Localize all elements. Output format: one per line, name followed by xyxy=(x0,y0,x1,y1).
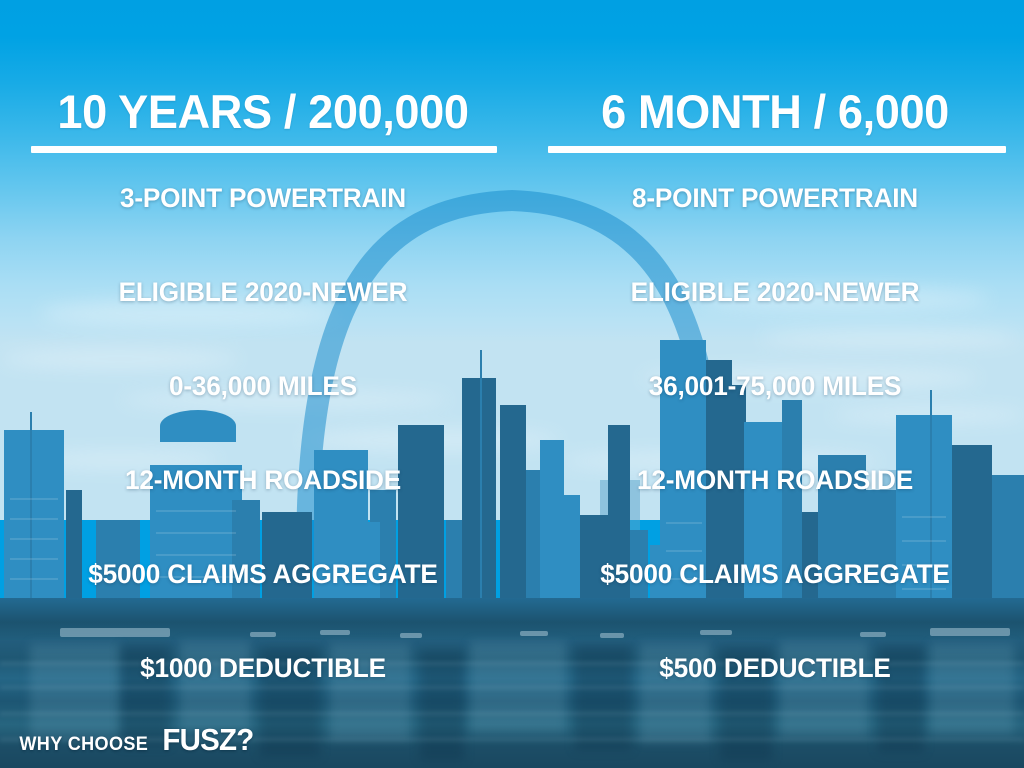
feature-item: $500 DEDUCTIBLE xyxy=(533,655,1016,749)
feature-label: 0-36,000 MILES xyxy=(169,373,357,400)
feature-label: 8-POINT POWERTRAIN xyxy=(632,185,918,212)
brand-name: FUSZ? xyxy=(162,722,253,758)
slide-canvas: 10 YEARS / 200,000 3-POINT POWERTRAIN EL… xyxy=(0,0,1024,768)
heading-underline-left xyxy=(31,146,497,153)
feature-list-left: 3-POINT POWERTRAIN ELIGIBLE 2020-NEWER 0… xyxy=(0,185,526,749)
feature-item: $5000 CLAIMS AGGREGATE xyxy=(533,561,1016,655)
feature-item: 0-36,000 MILES xyxy=(8,373,518,467)
feature-item: $5000 CLAIMS AGGREGATE xyxy=(8,561,518,655)
plan-heading-right: 6 MONTH / 6,000 xyxy=(536,88,1014,135)
feature-item: ELIGIBLE 2020-NEWER xyxy=(533,279,1016,373)
feature-label: $5000 CLAIMS AGGREGATE xyxy=(600,561,949,588)
feature-item: 12-MONTH ROADSIDE xyxy=(533,467,1016,561)
brand-prefix: WHY CHOOSE xyxy=(19,734,148,756)
feature-label: $1000 DEDUCTIBLE xyxy=(140,655,386,682)
feature-label: $5000 CLAIMS AGGREGATE xyxy=(88,561,437,588)
feature-item: 12-MONTH ROADSIDE xyxy=(8,467,518,561)
feature-item: 8-POINT POWERTRAIN xyxy=(533,185,1016,279)
feature-label: 36,001-75,000 MILES xyxy=(649,373,902,400)
feature-label: $500 DEDUCTIBLE xyxy=(659,655,890,682)
feature-item: 3-POINT POWERTRAIN xyxy=(8,185,518,279)
plan-heading-left: 10 YEARS / 200,000 xyxy=(11,88,516,135)
feature-item: 36,001-75,000 MILES xyxy=(533,373,1016,467)
feature-list-right: 8-POINT POWERTRAIN ELIGIBLE 2020-NEWER 3… xyxy=(526,185,1024,749)
brand-lockup: WHY CHOOSE FUSZ? xyxy=(16,722,255,758)
plan-column-right: 6 MONTH / 6,000 8-POINT POWERTRAIN ELIGI… xyxy=(526,0,1024,768)
feature-label: 12-MONTH ROADSIDE xyxy=(637,467,913,494)
plan-column-left: 10 YEARS / 200,000 3-POINT POWERTRAIN EL… xyxy=(0,0,526,768)
feature-item: ELIGIBLE 2020-NEWER xyxy=(8,279,518,373)
feature-label: 12-MONTH ROADSIDE xyxy=(125,467,401,494)
feature-label: ELIGIBLE 2020-NEWER xyxy=(631,279,920,306)
heading-underline-right xyxy=(548,146,1006,153)
feature-label: ELIGIBLE 2020-NEWER xyxy=(119,279,408,306)
feature-label: 3-POINT POWERTRAIN xyxy=(120,185,406,212)
